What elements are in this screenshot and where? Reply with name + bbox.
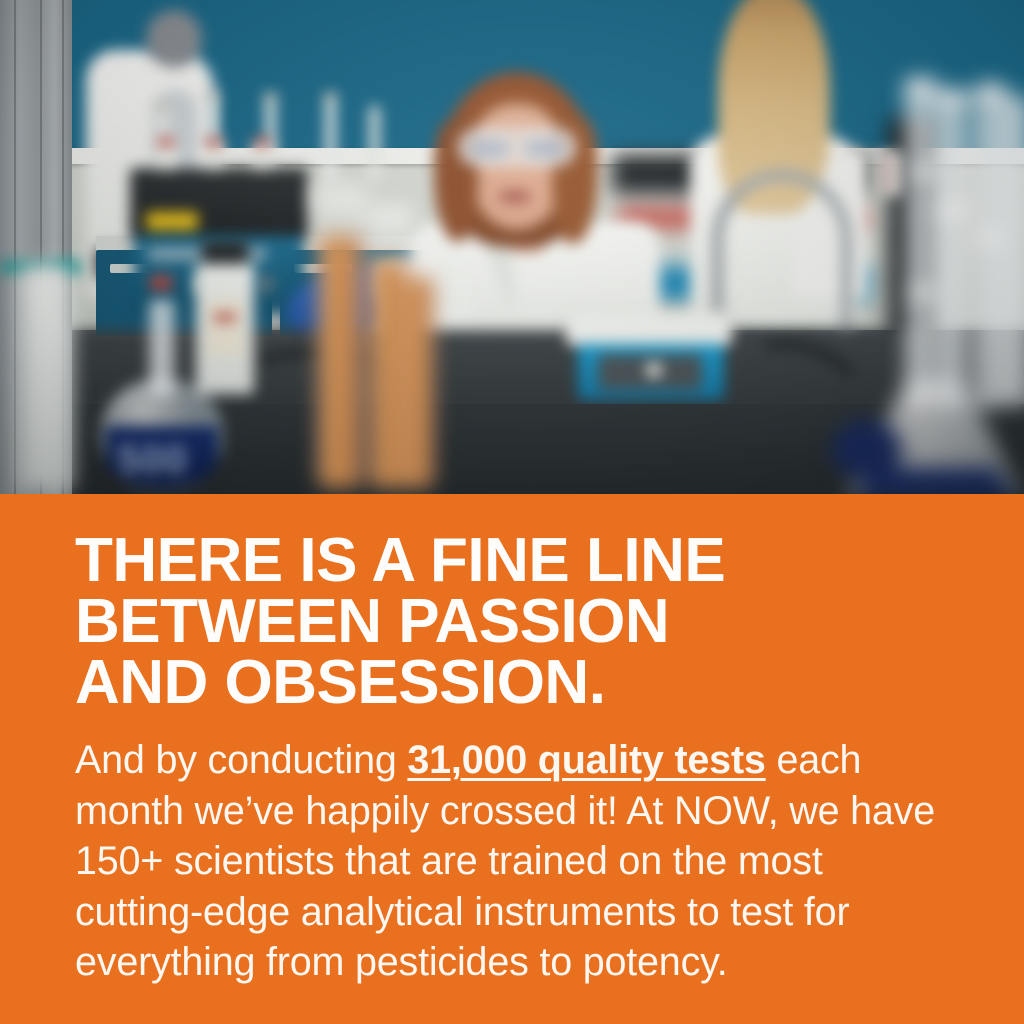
lab-photo: 500 <box>0 0 1024 494</box>
column-band <box>936 204 970 216</box>
orange-text-panel: THERE IS A FINE LINE BETWEEN PASSION AND… <box>0 494 1024 1024</box>
social-graphic-card: 500 <box>0 0 1024 1024</box>
column-band <box>936 92 970 104</box>
headline-line-1: THERE IS A FINE LINE <box>75 530 949 591</box>
page-title: THERE IS A FINE LINE BETWEEN PASSION AND… <box>75 530 949 713</box>
glass-column <box>904 76 938 406</box>
column-band <box>904 286 938 298</box>
column-band <box>904 166 938 178</box>
foreground-pipettes-wrap <box>0 0 1024 494</box>
headline-line-3: AND OBSESSION. <box>75 652 949 713</box>
column-band <box>904 82 938 94</box>
body-text-before: And by conducting <box>75 738 407 782</box>
headline-line-2: BETWEEN PASSION <box>75 591 949 652</box>
blue-liquid-blob <box>832 420 902 480</box>
body-paragraph: And by conducting 31,000 quality tests e… <box>75 735 945 988</box>
left-foreground-glassware <box>20 264 72 490</box>
quality-tests-highlight: 31,000 quality tests <box>407 738 765 782</box>
